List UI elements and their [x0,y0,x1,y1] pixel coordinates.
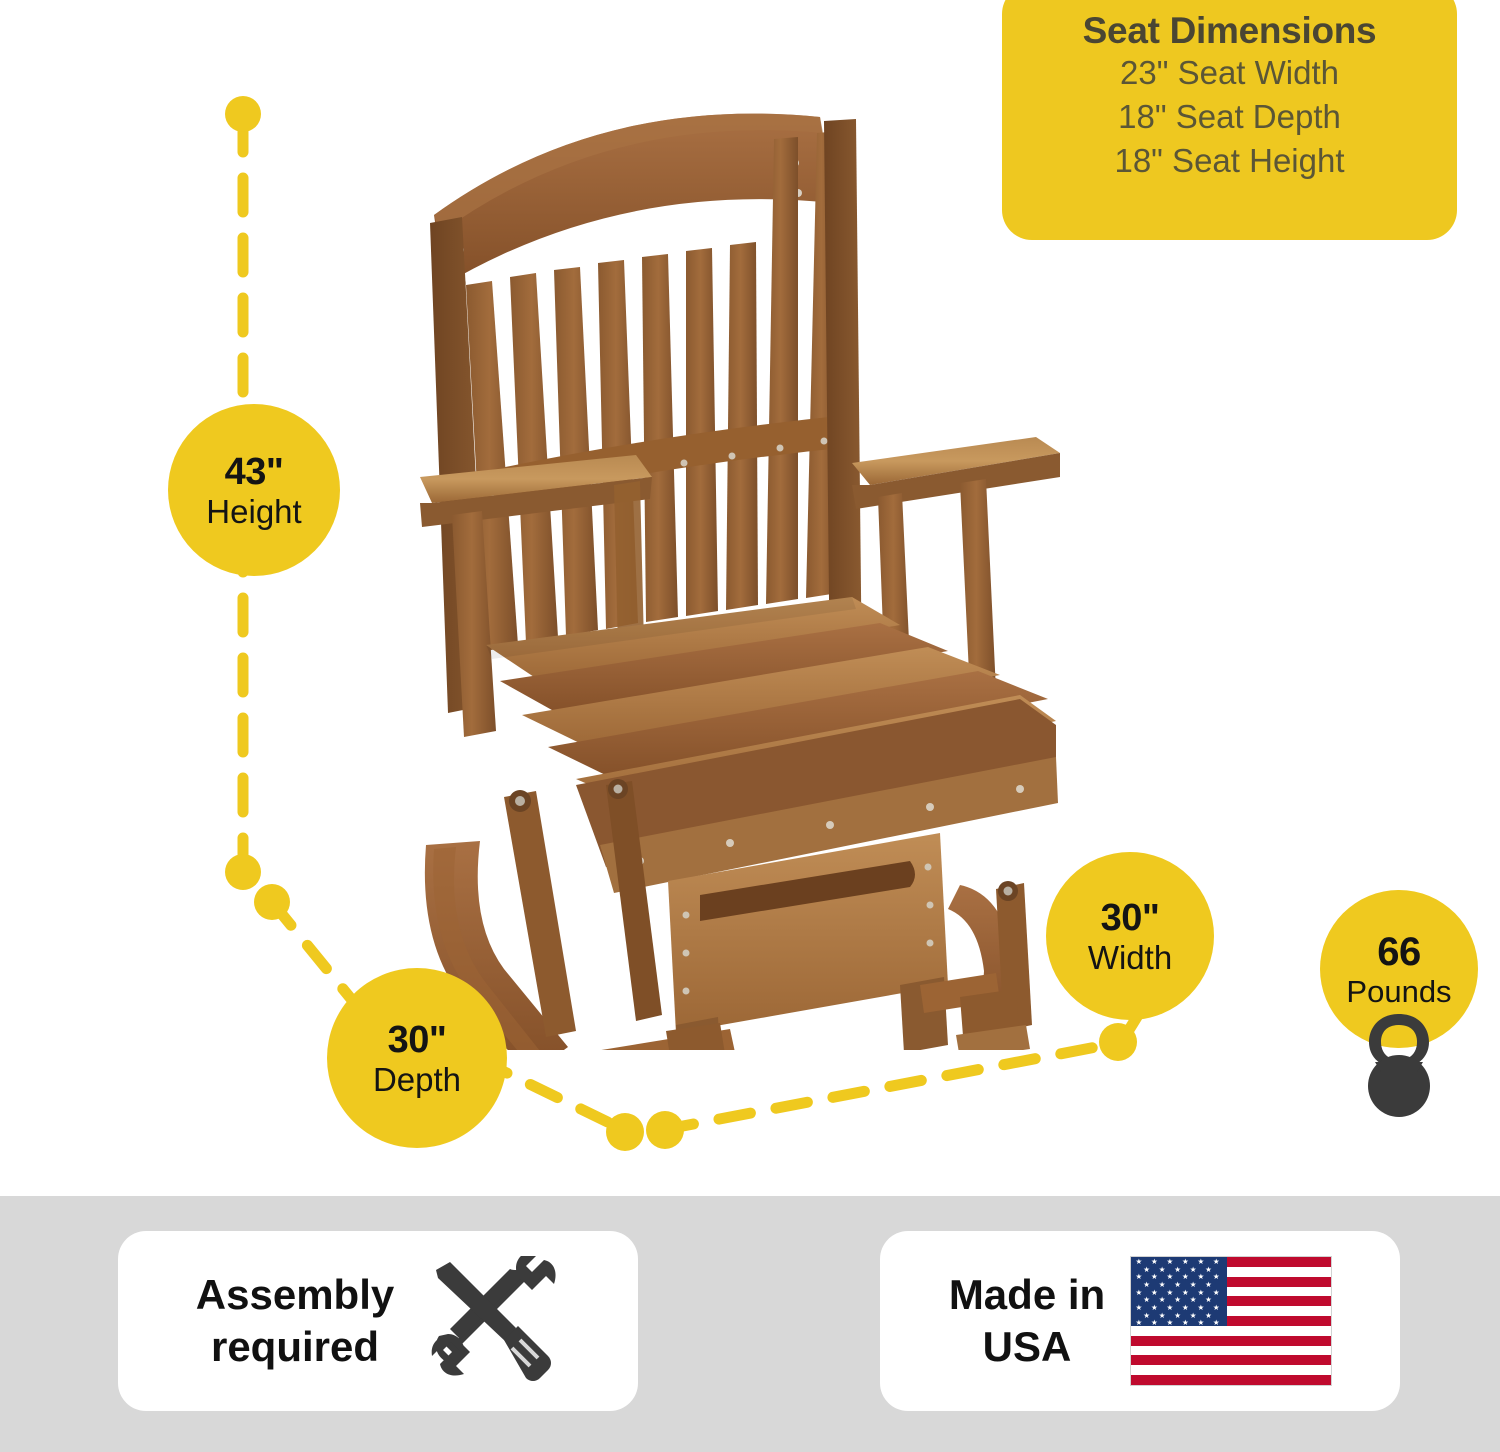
flag-stripe [1131,1375,1331,1385]
flag-star: ★ [1166,1273,1173,1280]
flag-star: ★ [1213,1304,1220,1311]
flag-star: ★ [1197,1258,1204,1265]
flag-star: ★ [1213,1319,1220,1326]
flag-star: ★ [1143,1266,1150,1273]
badge-height-value: 43" [225,453,284,491]
guide-endpoint-dot [646,1111,684,1149]
seat-height-line: 18" Seat Height [1022,139,1437,183]
flag-star: ★ [1197,1273,1204,1280]
assembly-required-label: Assembly required [196,1269,394,1373]
badge-depth-label: Depth [373,1063,461,1096]
flag-canton: ★★★★★★★★★★★★★★★★★★★★★★★★★★★★★★★★★★★★★★★★… [1131,1257,1227,1326]
flag-star: ★ [1166,1289,1173,1296]
us-flag-icon: ★★★★★★★★★★★★★★★★★★★★★★★★★★★★★★★★★★★★★★★★… [1131,1257,1331,1385]
flag-star: ★ [1143,1312,1150,1319]
badge-height-label: Height [206,495,301,528]
flag-star: ★ [1136,1273,1143,1280]
flag-star: ★ [1159,1281,1166,1288]
badge-weight-value: 66 [1377,932,1421,972]
flag-star: ★ [1205,1312,1212,1319]
flag-star: ★ [1190,1281,1197,1288]
flag-star: ★ [1143,1281,1150,1288]
assembly-required-card: Assembly required [118,1231,638,1411]
flag-star: ★ [1151,1289,1158,1296]
wrench-screwdriver-icon [420,1256,560,1386]
flag-star: ★ [1174,1312,1181,1319]
guide-endpoint-dot [1099,1023,1137,1061]
flag-star: ★ [1213,1258,1220,1265]
seat-dimensions-card: Seat Dimensions 23" Seat Width 18" Seat … [1002,0,1457,240]
flag-star: ★ [1197,1319,1204,1326]
guide-endpoint-dot [225,96,261,132]
flag-stripe [1131,1355,1331,1365]
seat-width-line: 23" Seat Width [1022,51,1437,95]
made-in-usa-card: Made in USA ★★★★★★★★★★★★★★★★★★★★★★★★★★★★… [880,1231,1400,1411]
flag-star: ★ [1159,1266,1166,1273]
badge-width: 30" Width [1046,852,1214,1020]
seat-depth-line: 18" Seat Depth [1022,95,1437,139]
flag-star: ★ [1182,1304,1189,1311]
flag-star: ★ [1159,1312,1166,1319]
flag-star: ★ [1151,1258,1158,1265]
badge-depth: 30" Depth [327,968,507,1148]
flag-star: ★ [1182,1273,1189,1280]
made-in-usa-label: Made in USA [949,1269,1105,1373]
badge-height: 43" Height [168,404,340,576]
flag-star: ★ [1136,1304,1143,1311]
flag-star: ★ [1151,1273,1158,1280]
flag-star: ★ [1213,1289,1220,1296]
guide-endpoint-dot [606,1113,644,1151]
flag-star: ★ [1151,1304,1158,1311]
badge-depth-value: 30" [388,1021,447,1059]
flag-star: ★ [1136,1319,1143,1326]
kettlebell-icon [1353,1008,1445,1120]
flag-stripe [1131,1336,1331,1346]
badge-width-label: Width [1088,941,1172,974]
infographic-canvas: Seat Dimensions 23" Seat Width 18" Seat … [0,0,1500,1452]
flag-star: ★ [1190,1266,1197,1273]
badge-width-value: 30" [1101,899,1160,937]
flag-star: ★ [1166,1304,1173,1311]
flag-star: ★ [1166,1319,1173,1326]
flag-star: ★ [1143,1296,1150,1303]
guide-endpoint-dot [225,854,261,890]
flag-star: ★ [1197,1289,1204,1296]
flag-star: ★ [1205,1281,1212,1288]
guide-endpoint-dot [254,884,290,920]
flag-star: ★ [1166,1258,1173,1265]
flag-star: ★ [1174,1266,1181,1273]
flag-star: ★ [1182,1258,1189,1265]
flag-star: ★ [1190,1296,1197,1303]
flag-star: ★ [1182,1319,1189,1326]
flag-star: ★ [1174,1281,1181,1288]
flag-star: ★ [1213,1273,1220,1280]
flag-star: ★ [1197,1304,1204,1311]
flag-star: ★ [1205,1296,1212,1303]
flag-star: ★ [1151,1319,1158,1326]
flag-star: ★ [1159,1296,1166,1303]
flag-star: ★ [1174,1296,1181,1303]
flag-star: ★ [1136,1258,1143,1265]
flag-star: ★ [1205,1266,1212,1273]
badge-weight-label: Pounds [1346,976,1451,1007]
flag-star: ★ [1136,1289,1143,1296]
flag-star: ★ [1190,1312,1197,1319]
flag-star: ★ [1182,1289,1189,1296]
footer-band: Assembly required Made in [0,1196,1500,1452]
seat-dimensions-title: Seat Dimensions [1022,10,1437,51]
